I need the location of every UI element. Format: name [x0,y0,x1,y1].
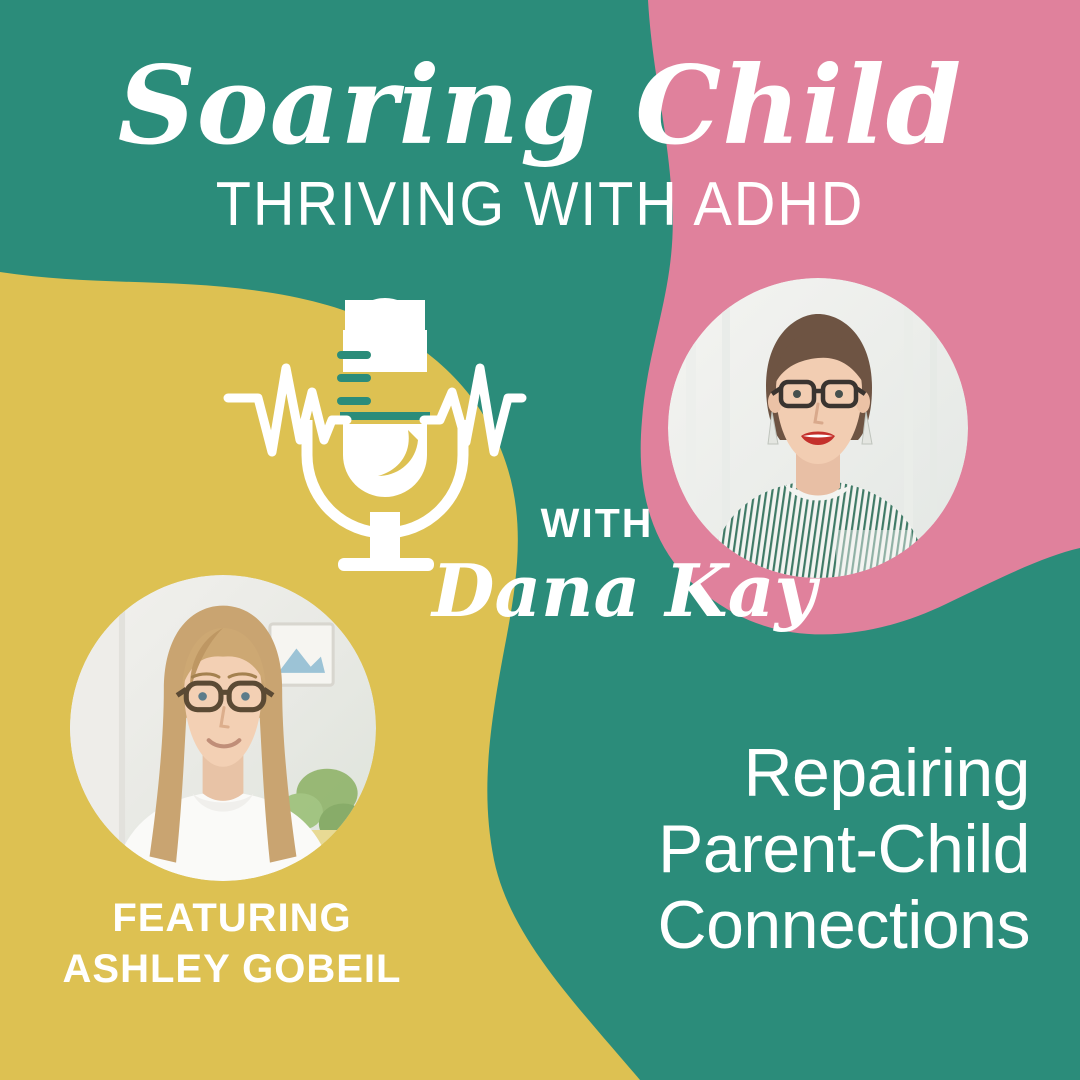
mic-lower-capsule [343,424,427,497]
mic-stand-base [338,558,434,571]
mic-divider-band [340,412,430,420]
guest-photo-avatar [70,575,376,881]
podcast-tagline: THRIVING WITH ADHD [38,174,1042,236]
mic-grille-slot-2 [337,374,371,382]
mic-grille-slot-1 [337,351,371,359]
guest-name: ASHLEY GOBEIL [22,944,442,995]
featuring-label: FEATURING [22,893,442,944]
host-name: Dana Kay [432,553,762,629]
podcast-title: Soaring Child [0,52,1080,160]
audio-waveform-right [424,368,522,452]
guest-headshot-illustration [70,575,376,881]
audio-waveform-left [228,368,347,452]
host-credit-block: WITH Dana Kay [432,500,762,629]
podcast-cover-art: Soaring Child THRIVING WITH ADHD WITH Da… [0,0,1080,1080]
episode-title-line-2: Parent-Child [470,811,1030,887]
brand-title-block: Soaring Child THRIVING WITH ADHD [0,52,1080,236]
episode-title-line-3: Connections [470,887,1030,963]
episode-title-block: Repairing Parent-Child Connections [470,735,1030,963]
mic-stand-post [370,512,400,560]
with-label: WITH [432,500,762,547]
mic-grille-slot-3 [337,397,371,405]
episode-title-line-1: Repairing [470,735,1030,811]
guest-credit-block: FEATURING ASHLEY GOBEIL [22,893,442,995]
